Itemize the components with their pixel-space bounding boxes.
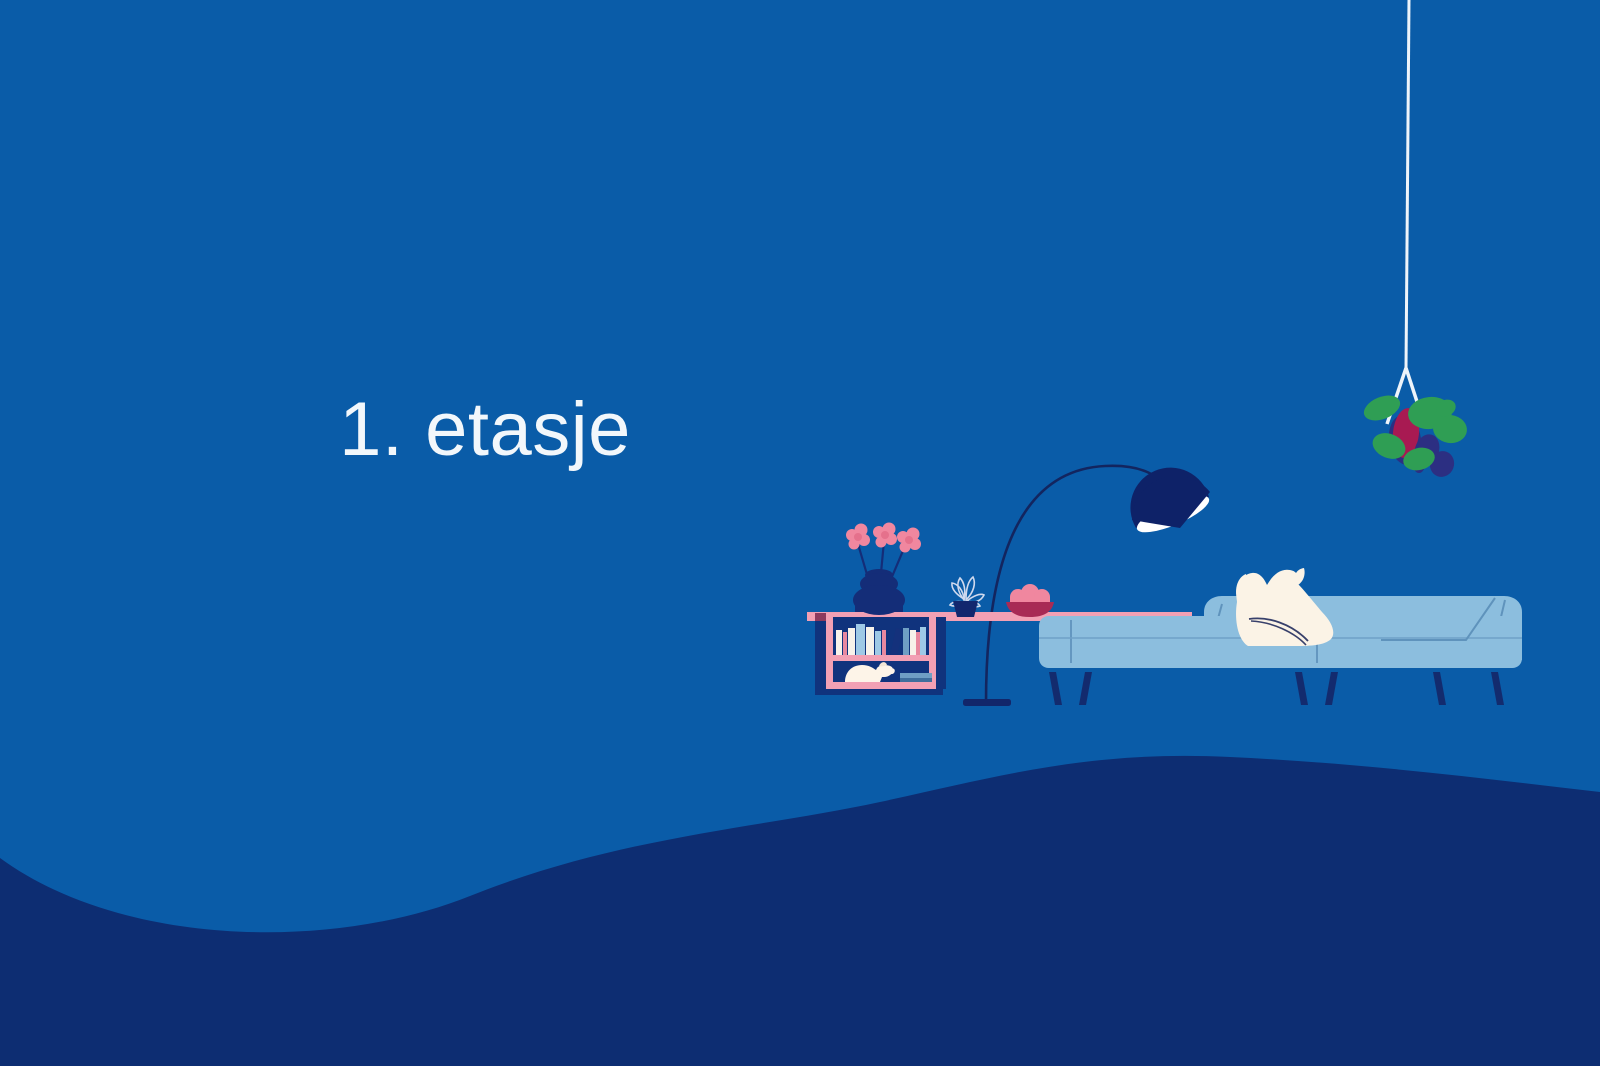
vase-base	[855, 598, 903, 612]
shelf-frame-left	[826, 617, 833, 689]
shelf-side-block-right	[936, 617, 946, 689]
book-spine	[882, 630, 886, 655]
plant-pot	[953, 601, 978, 617]
shelf-accent-left	[815, 613, 826, 621]
book-spine	[836, 630, 842, 655]
book-spine	[903, 628, 909, 655]
lamp-base	[963, 699, 1011, 706]
book-spine	[920, 627, 926, 655]
book-spine	[848, 628, 855, 655]
shelf-frame-bottom	[826, 682, 936, 689]
shelf-side-block-left	[815, 617, 826, 689]
stacked-books	[900, 678, 932, 682]
shelf-divider-middle	[826, 655, 936, 661]
stacked-books	[900, 673, 932, 678]
slide-canvas: 1. etasje	[0, 0, 1600, 1066]
book-spine	[856, 624, 865, 655]
book-spine	[910, 630, 916, 655]
book-spine	[866, 627, 874, 655]
living-room-illustration	[0, 0, 1600, 1066]
book-spine	[916, 632, 920, 655]
book-spine	[875, 631, 881, 655]
book-spine	[843, 632, 847, 655]
